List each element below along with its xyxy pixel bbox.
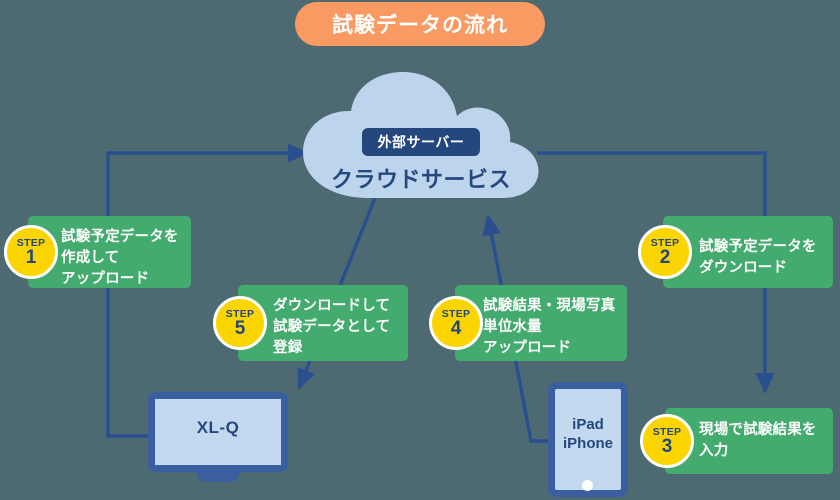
step-1-text: 試験予定データを 作成して アップロード (61, 227, 179, 290)
step-3-badge-number: 3 (662, 437, 673, 456)
page-title: 試験データの流れ (295, 2, 545, 46)
cloud-service-node: 外部サーバー クラウドサービス (297, 70, 545, 200)
step-4-text: 試験結果・現場写真 単位水量 アップロード (483, 296, 615, 359)
step-2-text: 試験予定データを ダウンロード (699, 237, 817, 279)
monitor-label: XL-Q (148, 418, 288, 438)
diagram-canvas: 試験データの流れ 外部サーバー クラウドサービス 試験予定データを 作成して ア… (0, 0, 840, 500)
step-3-badge: STEP 3 (640, 414, 694, 468)
step-3-text: 現場で試験結果を 入力 (699, 420, 817, 462)
monitor-stand (196, 470, 240, 482)
step-5-text: ダウンロードして 試験データとして 登録 (273, 296, 390, 359)
tablet-home-button-icon (582, 480, 593, 491)
cloud-service-label: クラウドサービス (297, 162, 545, 194)
step-5-badge-number: 5 (235, 319, 246, 338)
desktop-monitor-icon: XL-Q (148, 392, 288, 478)
step-5-badge: STEP 5 (213, 296, 267, 350)
cloud-server-badge: 外部サーバー (362, 128, 480, 156)
step-4-badge: STEP 4 (429, 296, 483, 350)
tablet-label: iPad iPhone (548, 415, 628, 453)
step-1-badge-number: 1 (26, 248, 37, 267)
step-2-badge: STEP 2 (638, 225, 692, 279)
step-4-badge-number: 4 (451, 319, 462, 338)
step-2-badge-number: 2 (660, 248, 671, 267)
tablet-device-icon: iPad iPhone (548, 382, 628, 497)
step-1-badge: STEP 1 (4, 225, 58, 279)
